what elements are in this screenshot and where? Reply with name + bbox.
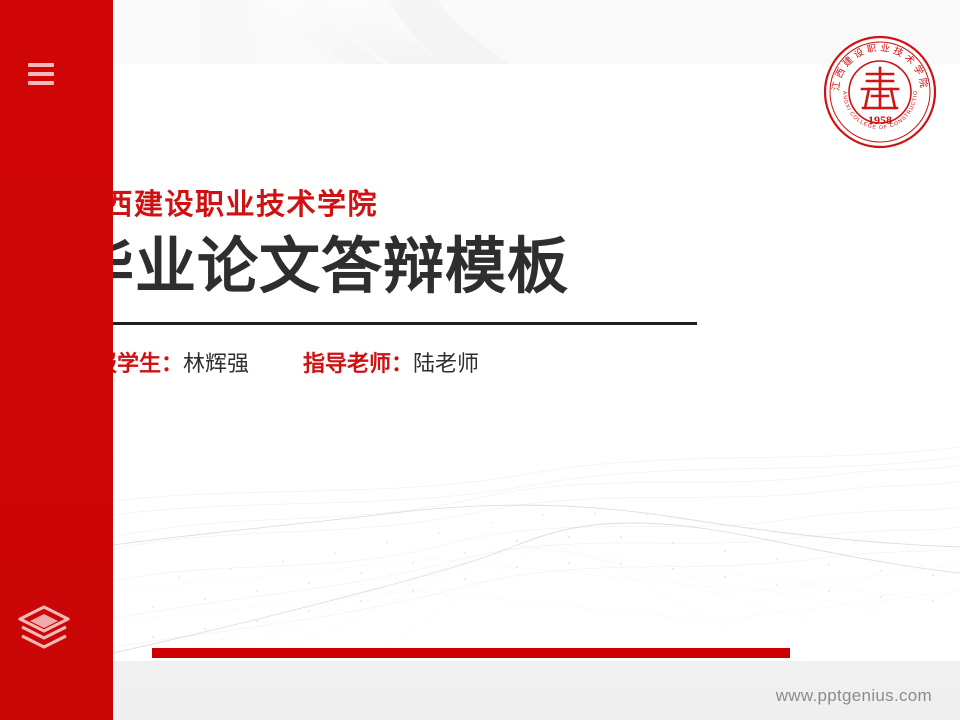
red-accent-bar xyxy=(152,648,790,658)
advisor-label: 指导老师： xyxy=(303,351,413,376)
hamburger-bar xyxy=(28,72,54,76)
byline-row: 汇报学生：林辉强指导老师：陆老师 xyxy=(73,351,773,377)
hamburger-bar xyxy=(28,81,54,85)
student-name: 林辉强 xyxy=(183,351,249,376)
school-seal-logo: 1958 江西建设职业技术学院 JIANGXI COLLEGE OF CONST… xyxy=(822,34,938,150)
title-text-block: 江西建设职业技术学院 毕业论文答辩模板 汇报学生：林辉强指导老师：陆老师 xyxy=(73,190,773,378)
presentation-slide: 1958 江西建设职业技术学院 JIANGXI COLLEGE OF CONST… xyxy=(0,0,960,720)
advisor-name: 陆老师 xyxy=(413,351,479,376)
left-red-sidebar xyxy=(0,0,113,720)
hamburger-menu-icon[interactable] xyxy=(28,63,54,85)
page-title: 毕业论文答辩模板 xyxy=(73,232,773,300)
wireframe-mesh-decoration xyxy=(113,441,960,661)
title-divider xyxy=(73,322,697,325)
hamburger-bar xyxy=(28,63,54,67)
school-name-heading: 江西建设职业技术学院 xyxy=(73,190,773,222)
footer-url: www.pptgenius.com xyxy=(776,686,932,706)
layers-stack-icon[interactable] xyxy=(16,602,72,654)
